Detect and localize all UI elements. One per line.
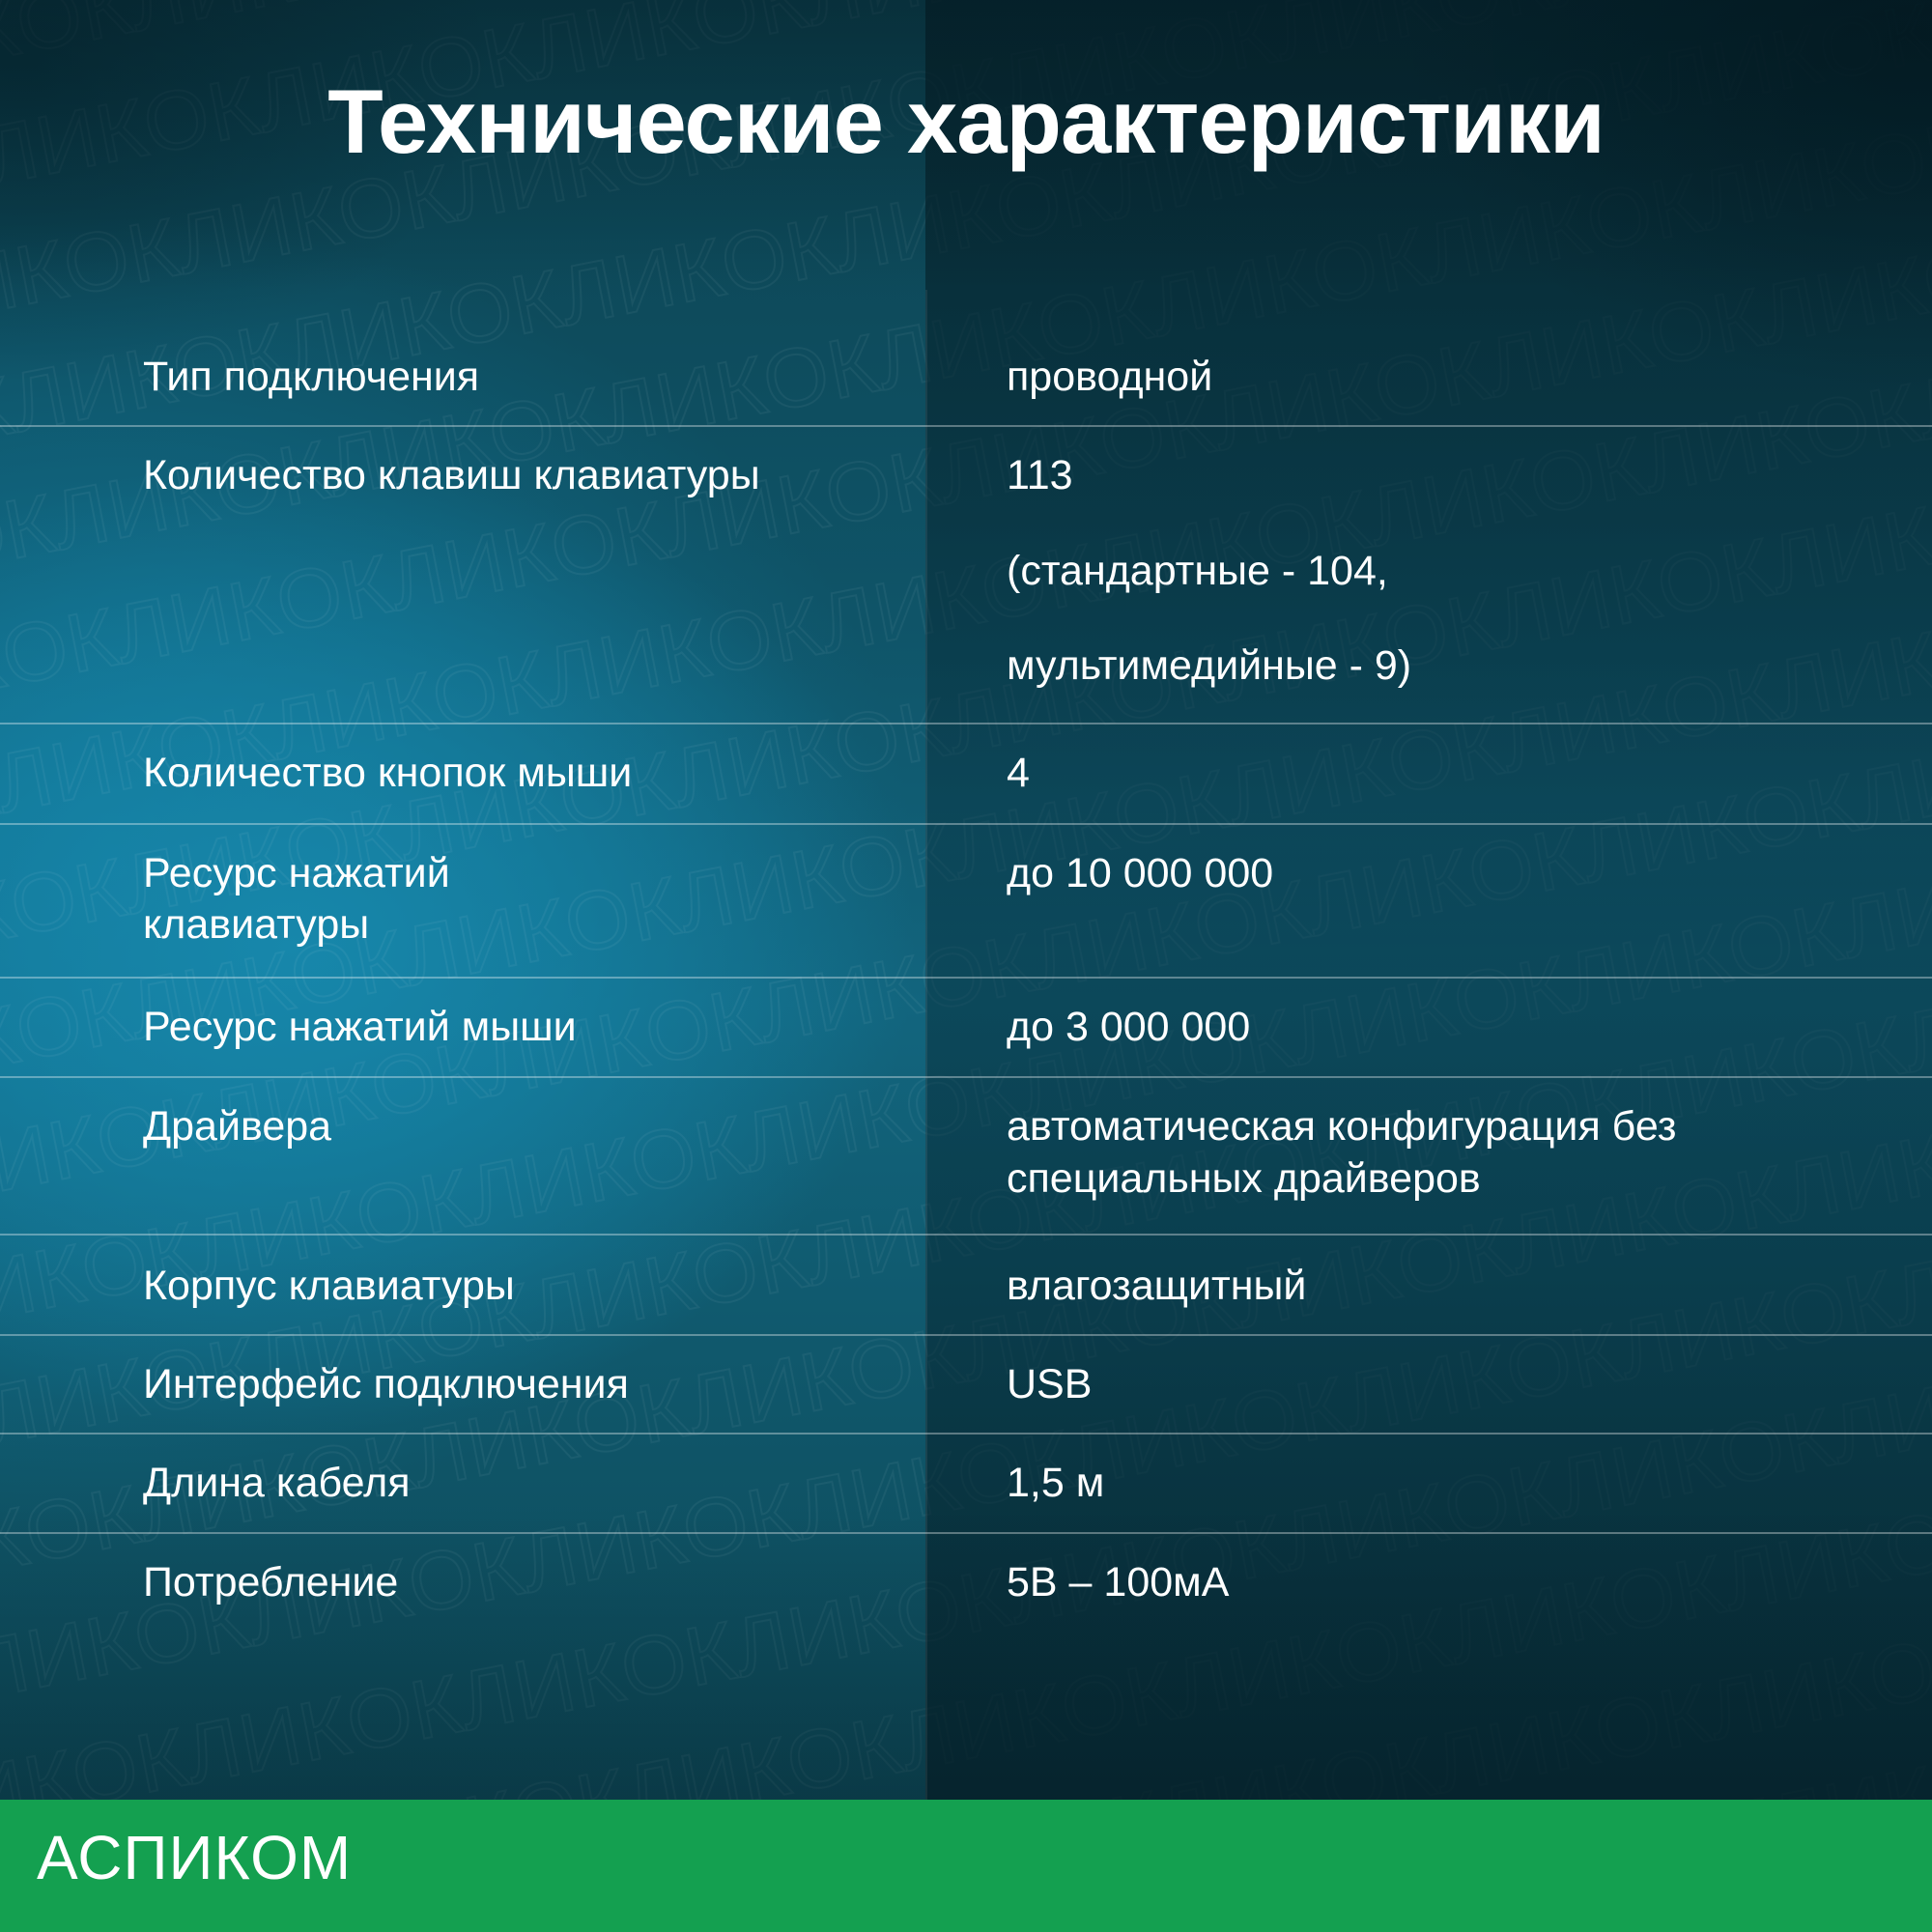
spec-value-cell: 1,5 м xyxy=(949,1434,1932,1532)
spec-label: клавиатуры xyxy=(143,899,925,950)
spec-label: Корпус клавиатуры xyxy=(143,1261,925,1311)
spec-value-cell: автоматическая конфигурация без специаль… xyxy=(949,1077,1932,1235)
spec-value-line: до 10 000 000 xyxy=(1007,848,1932,898)
specifications-table: Тип подключения проводной Количество кла… xyxy=(0,327,1932,1631)
spec-value-line: 1,5 м xyxy=(1007,1458,1932,1508)
spec-label: Ресурс нажатий мыши xyxy=(143,1002,925,1052)
table-row: Тип подключения проводной xyxy=(0,327,1932,426)
spec-label: Количество клавиш клавиатуры xyxy=(143,450,925,500)
spec-value-line: влагозащитный xyxy=(1007,1261,1932,1311)
spec-value-cell: 113 (стандартные - 104, мультимедийные -… xyxy=(949,426,1932,723)
table-row: Интерфейс подключения USB xyxy=(0,1335,1932,1434)
spec-sheet-page: КЛИКОКЛИКОКЛИКОКЛИКОКЛИКОКЛИКОКЛИКОКЛИКО… xyxy=(0,0,1932,1932)
spec-value-line: автоматическая конфигурация без xyxy=(1007,1101,1932,1151)
spec-value-cell: USB xyxy=(949,1335,1932,1434)
table-row: Ресурс нажатий мыши до 3 000 000 xyxy=(0,978,1932,1076)
table-row: Драйвера автоматическая конфигурация без… xyxy=(0,1077,1932,1235)
spec-label: Количество кнопок мыши xyxy=(143,748,925,798)
spec-value-line: до 3 000 000 xyxy=(1007,1002,1932,1052)
spec-value-line: 5В – 100мА xyxy=(1007,1557,1932,1607)
spec-label-cell: Интерфейс подключения xyxy=(0,1335,949,1434)
spec-label: Тип подключения xyxy=(143,352,925,402)
spec-value-cell: проводной xyxy=(949,327,1932,426)
spec-label: Ресурс нажатий xyxy=(143,848,925,898)
table-row: Корпус клавиатуры влагозащитный xyxy=(0,1235,1932,1335)
spec-label-cell: Ресурс нажатий клавиатуры xyxy=(0,824,949,978)
spec-label-cell: Количество кнопок мыши xyxy=(0,724,949,824)
spec-value-cell: влагозащитный xyxy=(949,1235,1932,1335)
spec-value-cell: 5В – 100мА xyxy=(949,1533,1932,1631)
table-row: Количество кнопок мыши 4 xyxy=(0,724,1932,824)
spec-value-line: USB xyxy=(1007,1359,1932,1409)
spec-value-line: мультимедийные - 9) xyxy=(1007,640,1932,691)
table-row: Количество клавиш клавиатуры 113 (станда… xyxy=(0,426,1932,723)
spec-label-cell: Корпус клавиатуры xyxy=(0,1235,949,1335)
spec-value-line: проводной xyxy=(1007,352,1932,402)
spec-label-cell: Длина кабеля xyxy=(0,1434,949,1532)
spec-label-cell: Драйвера xyxy=(0,1077,949,1235)
spec-label-cell: Ресурс нажатий мыши xyxy=(0,978,949,1076)
brand-logo-text: АСПИКОМ xyxy=(37,1827,352,1889)
spec-value-cell: до 3 000 000 xyxy=(949,978,1932,1076)
table-row: Длина кабеля 1,5 м xyxy=(0,1434,1932,1532)
spec-label: Драйвера xyxy=(143,1101,925,1151)
spec-label-cell: Количество клавиш клавиатуры xyxy=(0,426,949,723)
spec-label-cell: Потребление xyxy=(0,1533,949,1631)
spec-label: Длина кабеля xyxy=(143,1458,925,1508)
spec-value-cell: до 10 000 000 xyxy=(949,824,1932,978)
footer-bar: АСПИКОМ xyxy=(0,1800,1932,1932)
spec-value-line: (стандартные - 104, xyxy=(1007,546,1932,596)
spec-value-line: 113 xyxy=(1007,450,1932,500)
page-title: Технические характеристики xyxy=(0,71,1932,171)
spec-label: Потребление xyxy=(143,1557,925,1607)
spec-value-line: специальных драйверов xyxy=(1007,1153,1932,1204)
table-row: Потребление 5В – 100мА xyxy=(0,1533,1932,1631)
spec-label: Интерфейс подключения xyxy=(143,1359,925,1409)
spec-value-cell: 4 xyxy=(949,724,1932,824)
spec-label-cell: Тип подключения xyxy=(0,327,949,426)
spec-value-line: 4 xyxy=(1007,748,1932,798)
table-row: Ресурс нажатий клавиатуры до 10 000 000 xyxy=(0,824,1932,978)
